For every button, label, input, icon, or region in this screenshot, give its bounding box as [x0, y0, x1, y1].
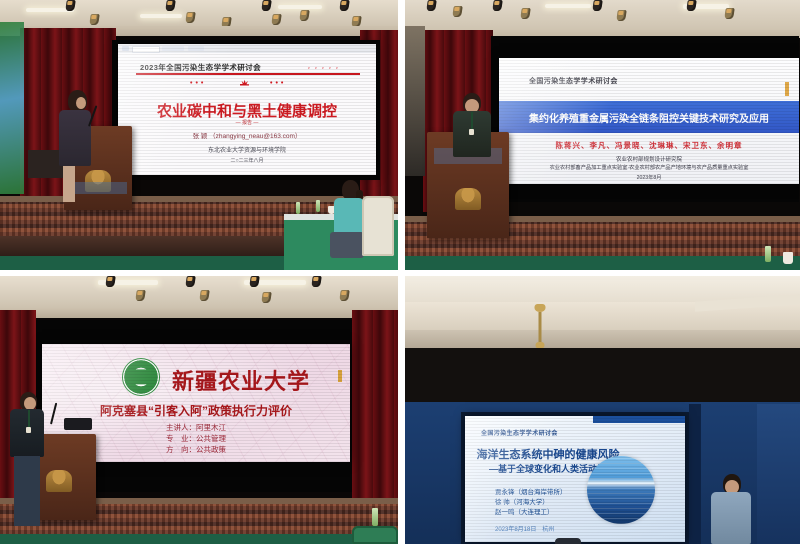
- stage-curtain-right: [352, 310, 398, 500]
- panel-bottom-left: 新疆农业大学 阿克塞县“引客入阿”政策执行力评价 主讲人：阿里木江 专 业：公共…: [0, 276, 398, 544]
- meta-label: 主讲人：: [166, 423, 196, 432]
- slide-rule: [136, 73, 360, 75]
- slide-top-right: 全国污染生态学学术研讨会 集约化养殖重金属污染全链条阻控关键技术研究及应用 陈蒋…: [499, 58, 799, 184]
- party-emblem-icon: [238, 76, 254, 92]
- side-display: [0, 22, 24, 194]
- badge: [469, 129, 474, 135]
- floor-band: [0, 534, 398, 544]
- ocean-image: [587, 456, 655, 524]
- browser-tab: [188, 46, 204, 51]
- slide-header: 2023年全国污染生态学学术研讨会: [140, 62, 261, 73]
- presentation-screen: 全国污染生态学学术研讨会 海洋生态系统中砷的健康风险 —基于全球变化和人类活动视…: [465, 416, 685, 542]
- panel-top-right: 全国污染生态学学术研讨会 集约化养殖重金属污染全链条阻控关键技术研究及应用 陈蒋…: [405, 0, 800, 270]
- slide-title-band: 集约化养殖重金属污染全链条阻控关键技术研究及应用: [499, 101, 799, 133]
- slide-author: 张 颖 （zhangying_neau@163.com）: [118, 130, 376, 140]
- side-wall: [405, 26, 425, 176]
- ceiling-light: [545, 4, 591, 8]
- presentation-screen: 全国污染生态学学术研讨会 集约化养殖重金属污染全链条阻控关键技术研究及应用 陈蒋…: [499, 58, 799, 184]
- lanyard: [28, 410, 30, 428]
- panel-top-left: 2023年全国污染生态学学术研讨会 ᵛ ᵛ ᵛ ᵛ ᵛ ••• ••• 农业碳中…: [0, 0, 398, 270]
- chair: [362, 196, 394, 256]
- ceiling: [405, 0, 800, 30]
- audience-legs: [330, 232, 364, 258]
- upper-dark-band: [405, 348, 800, 402]
- water-bottle: [372, 508, 378, 526]
- meta-value: 公共管理: [196, 434, 226, 443]
- browser-tab-active: [132, 46, 160, 53]
- audience-body: [334, 198, 364, 234]
- chandelier-rod: [539, 312, 542, 346]
- browser-tab: [162, 46, 184, 51]
- wall-panel: [757, 404, 800, 544]
- author-line: 赵一鸣（大连理工）: [495, 508, 567, 518]
- slide-date: 2023年8月18日 杭州: [495, 524, 554, 533]
- slide-top-bar: [593, 416, 685, 423]
- lanyard: [471, 112, 473, 130]
- browser-tab: [122, 46, 129, 51]
- ceiling: [0, 0, 398, 26]
- speaker-body: [711, 492, 751, 544]
- slide-affiliation-1: 农业农村部规划设计研究院: [499, 155, 799, 163]
- dot-decoration-left: •••: [190, 80, 206, 87]
- slide-title: 集约化养殖重金属污染全链条阻控关键技术研究及应用: [499, 110, 799, 125]
- slide-subtitle: — 报告 —: [118, 119, 376, 126]
- speaker-legs: [14, 456, 40, 526]
- ceiling-light: [278, 5, 322, 9]
- slide-authors: 贾永锋（烟台海岸带所） 徐 帅（河海大学） 赵一鸣（大连理工）: [495, 488, 567, 518]
- chair: [352, 526, 398, 544]
- dot-decoration-right: •••: [270, 80, 286, 87]
- podium-panel: [69, 182, 126, 194]
- slide-title: 农业碳中和与黑土健康调控: [118, 100, 376, 121]
- slide-affiliation-2: 农业农村部畜产品加工重点实验室·农业农村部农产品产地环境与农产品质量重点实验室: [499, 164, 799, 171]
- ceiling-trim: [405, 330, 800, 348]
- speaker-face: [76, 97, 86, 109]
- slide-header: 全国污染生态学学术研讨会: [529, 76, 618, 86]
- water-bottle: [765, 246, 771, 262]
- badge: [26, 427, 31, 433]
- slide-affiliation: 东北农业大学资源与环境学院: [118, 145, 376, 154]
- slide-date: 二○二三年八月: [118, 157, 376, 164]
- bird-decoration: ᵛ ᵛ ᵛ ᵛ ᵛ: [308, 66, 340, 72]
- floor-band: [405, 256, 800, 270]
- ceiling: [0, 276, 398, 308]
- chandelier-cap: [535, 304, 546, 312]
- slide-header: 全国污染生态学学术研讨会: [481, 428, 558, 437]
- university-name: 新疆农业大学: [172, 364, 310, 396]
- photo-collage: 2023年全国污染生态学学术研讨会 ᵛ ᵛ ᵛ ᵛ ᵛ ••• ••• 农业碳中…: [0, 0, 800, 544]
- speaker-body: [10, 409, 44, 457]
- meta-label: 方 向：: [166, 445, 196, 454]
- presentation-screen: 2023年全国污染生态学学术研讨会 ᵛ ᵛ ᵛ ᵛ ᵛ ••• ••• 农业碳中…: [118, 44, 376, 175]
- author-line: 徐 帅（河海大学）: [495, 498, 567, 508]
- slide-top-left: 2023年全国污染生态学学术研讨会 ᵛ ᵛ ᵛ ᵛ ᵛ ••• ••• 农业碳中…: [118, 44, 376, 175]
- speaker-body: [59, 110, 91, 166]
- slide-accent-mark: [338, 370, 342, 382]
- meta-value: 阿里木江: [196, 423, 226, 432]
- podium-logo-icon: [455, 188, 481, 210]
- wall-divider: [689, 404, 701, 544]
- university-logo-icon: [122, 358, 160, 396]
- speaker-legs: [63, 166, 75, 202]
- cup: [783, 252, 793, 264]
- ceiling-light: [140, 14, 182, 18]
- panel-bottom-right: 全国污染生态学学术研讨会 海洋生态系统中砷的健康风险 —基于全球变化和人类活动视…: [405, 276, 800, 544]
- meta-value: 公共政策: [196, 445, 226, 454]
- laptop: [64, 418, 92, 430]
- author-line: 贾永锋（烟台海岸带所）: [495, 488, 567, 498]
- meta-label: 专 业：: [166, 434, 196, 443]
- audience-head-silhouette: [555, 538, 581, 544]
- slide-date: 2023年8月: [499, 174, 799, 181]
- slide-accent-mark: [785, 82, 789, 96]
- water-bottle: [316, 200, 320, 212]
- slide-authors: 陈蒋兴、李凡、冯景晓、沈琳琳、宋卫东、余明章: [499, 140, 799, 151]
- podium-logo-icon: [46, 470, 72, 492]
- slide-bottom-right: 全国污染生态学学术研讨会 海洋生态系统中砷的健康风险 —基于全球变化和人类活动视…: [465, 416, 685, 542]
- water-bottle: [296, 202, 300, 214]
- slide-title: 阿克塞县“引客入阿”政策执行力评价: [42, 402, 350, 419]
